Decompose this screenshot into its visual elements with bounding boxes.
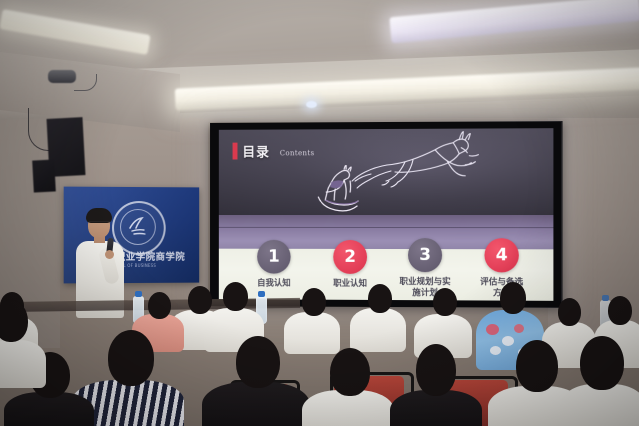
- audience-head: [108, 330, 154, 386]
- projection-screen: 目录 Contents: [210, 121, 563, 308]
- slide-title-en: Contents: [280, 149, 315, 157]
- audience-head: [368, 284, 392, 313]
- rocking-horse-icon: [309, 165, 361, 215]
- audience-head: [433, 288, 457, 316]
- audience-head: [223, 282, 248, 311]
- floral-pattern: [514, 324, 524, 333]
- audience-head: [608, 296, 632, 325]
- floral-pattern: [486, 324, 499, 335]
- audience-head: [236, 336, 280, 388]
- audience-shoulders: [560, 384, 639, 426]
- slide-title-cn: 目录: [242, 141, 270, 160]
- item-number-badge: 3: [408, 238, 442, 272]
- audience-shoulders: [202, 382, 310, 426]
- audience-head: [148, 292, 171, 319]
- lecture-hall-photo: 目录 Contents: [0, 0, 639, 426]
- audience-head: [558, 298, 581, 326]
- item-number-badge: 2: [333, 240, 367, 274]
- audience-head: [580, 336, 624, 390]
- item-number-badge: 4: [484, 239, 518, 273]
- audience-shoulders: [284, 312, 340, 354]
- floral-pattern: [490, 346, 501, 355]
- item-label: 自我认知: [236, 279, 311, 290]
- audience-head: [416, 344, 456, 396]
- eyeglasses-icon: [89, 221, 110, 227]
- audience-head: [516, 340, 558, 392]
- presenter-hand: [105, 250, 114, 259]
- presentation-slide: 目录 Contents: [219, 128, 554, 301]
- floral-pattern: [502, 336, 514, 346]
- wall-speaker-secondary-icon: [32, 159, 56, 192]
- downlight-icon: [306, 101, 317, 108]
- title-accent-bar: [233, 143, 238, 160]
- contents-item-1: 1 自我认知: [236, 240, 311, 290]
- item-label-line1: 职业认知: [333, 279, 367, 289]
- emblem-mark-icon: [126, 214, 150, 238]
- audience-head: [0, 300, 28, 342]
- audience-head: [330, 348, 370, 396]
- item-number-badge: 1: [257, 240, 291, 274]
- audience-head: [500, 282, 526, 314]
- item-label-line1: 自我认知: [257, 279, 291, 289]
- audience-head: [188, 286, 212, 314]
- item-label-line1: 职业规划与实: [399, 277, 450, 287]
- contents-item-2: 2 职业认知: [312, 240, 388, 290]
- audience-shoulders: [350, 308, 406, 352]
- ceiling-device-icon: [48, 70, 76, 83]
- audience-shoulders: [0, 340, 46, 388]
- audience-head: [302, 288, 326, 316]
